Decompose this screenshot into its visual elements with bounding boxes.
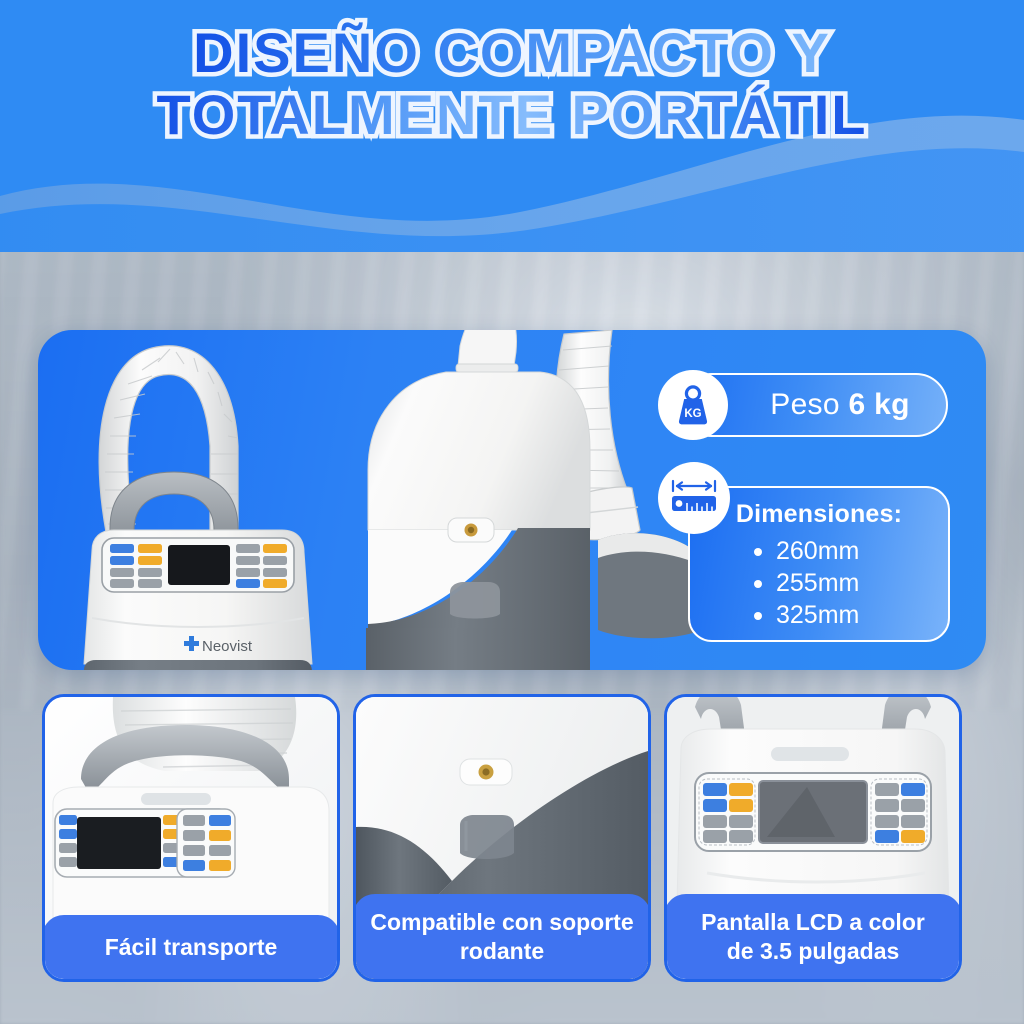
device-control-panel <box>102 538 294 592</box>
feature-card-lcd-screen[interactable]: Pantalla LCD a color de 3.5 pulgadas <box>664 694 962 982</box>
feature-card-pole-compatible[interactable]: Compatible con soporte rodante <box>353 694 651 982</box>
header-band: DISEÑO COMPACTO Y DISEÑO COMPACTO Y TOTA… <box>0 0 1024 252</box>
weight-text: Peso 6 kg <box>770 388 909 422</box>
feature-caption: Fácil transporte <box>42 915 340 982</box>
weight-kg-icon: KG <box>669 381 717 429</box>
device-lower-grip <box>450 582 500 619</box>
svg-text:KG: KG <box>684 408 701 420</box>
feature-caption-line-1: Pantalla LCD a color <box>701 909 925 935</box>
list-item: 260mm <box>752 535 948 567</box>
pole-mount-connector <box>448 518 494 542</box>
device-brand-name: Neovist <box>202 638 253 655</box>
weight-label: Peso <box>770 388 840 421</box>
title-line-1-fill: DISEÑO COMPACTO Y <box>193 21 831 84</box>
weight-value: 6 kg <box>849 388 910 421</box>
title-line-1: DISEÑO COMPACTO Y DISEÑO COMPACTO Y <box>0 22 1024 84</box>
weight-icon-circle: KG <box>658 370 728 440</box>
list-item: 255mm <box>752 567 948 599</box>
pole-mount-connector <box>460 759 512 785</box>
feature-card-easy-transport[interactable]: Fácil transporte <box>42 694 340 982</box>
dimensions-list: 260mm 255mm 325mm <box>752 535 948 631</box>
feature-caption: Pantalla LCD a color de 3.5 pulgadas <box>664 894 962 982</box>
page-title: DISEÑO COMPACTO Y DISEÑO COMPACTO Y TOTA… <box>0 22 1024 146</box>
title-line-2: TOTALMENTE PORTÁTIL TOTALMENTE PORTÁTIL <box>0 84 1024 146</box>
feature-caption-line-2: de 3.5 pulgadas <box>727 938 900 964</box>
title-line-2-fill: TOTALMENTE PORTÁTIL <box>157 83 868 146</box>
device-front-view-image: Neovist Patient Warmer <box>48 330 348 670</box>
device-lower-grip <box>460 815 514 859</box>
list-item: 325mm <box>752 599 948 631</box>
feature-caption: Compatible con soporte rodante <box>353 894 651 982</box>
dimensions-icon-circle <box>658 462 730 534</box>
ruler-measure-icon <box>669 477 719 519</box>
weight-spec-badge: Peso 6 kg KG <box>658 370 948 440</box>
